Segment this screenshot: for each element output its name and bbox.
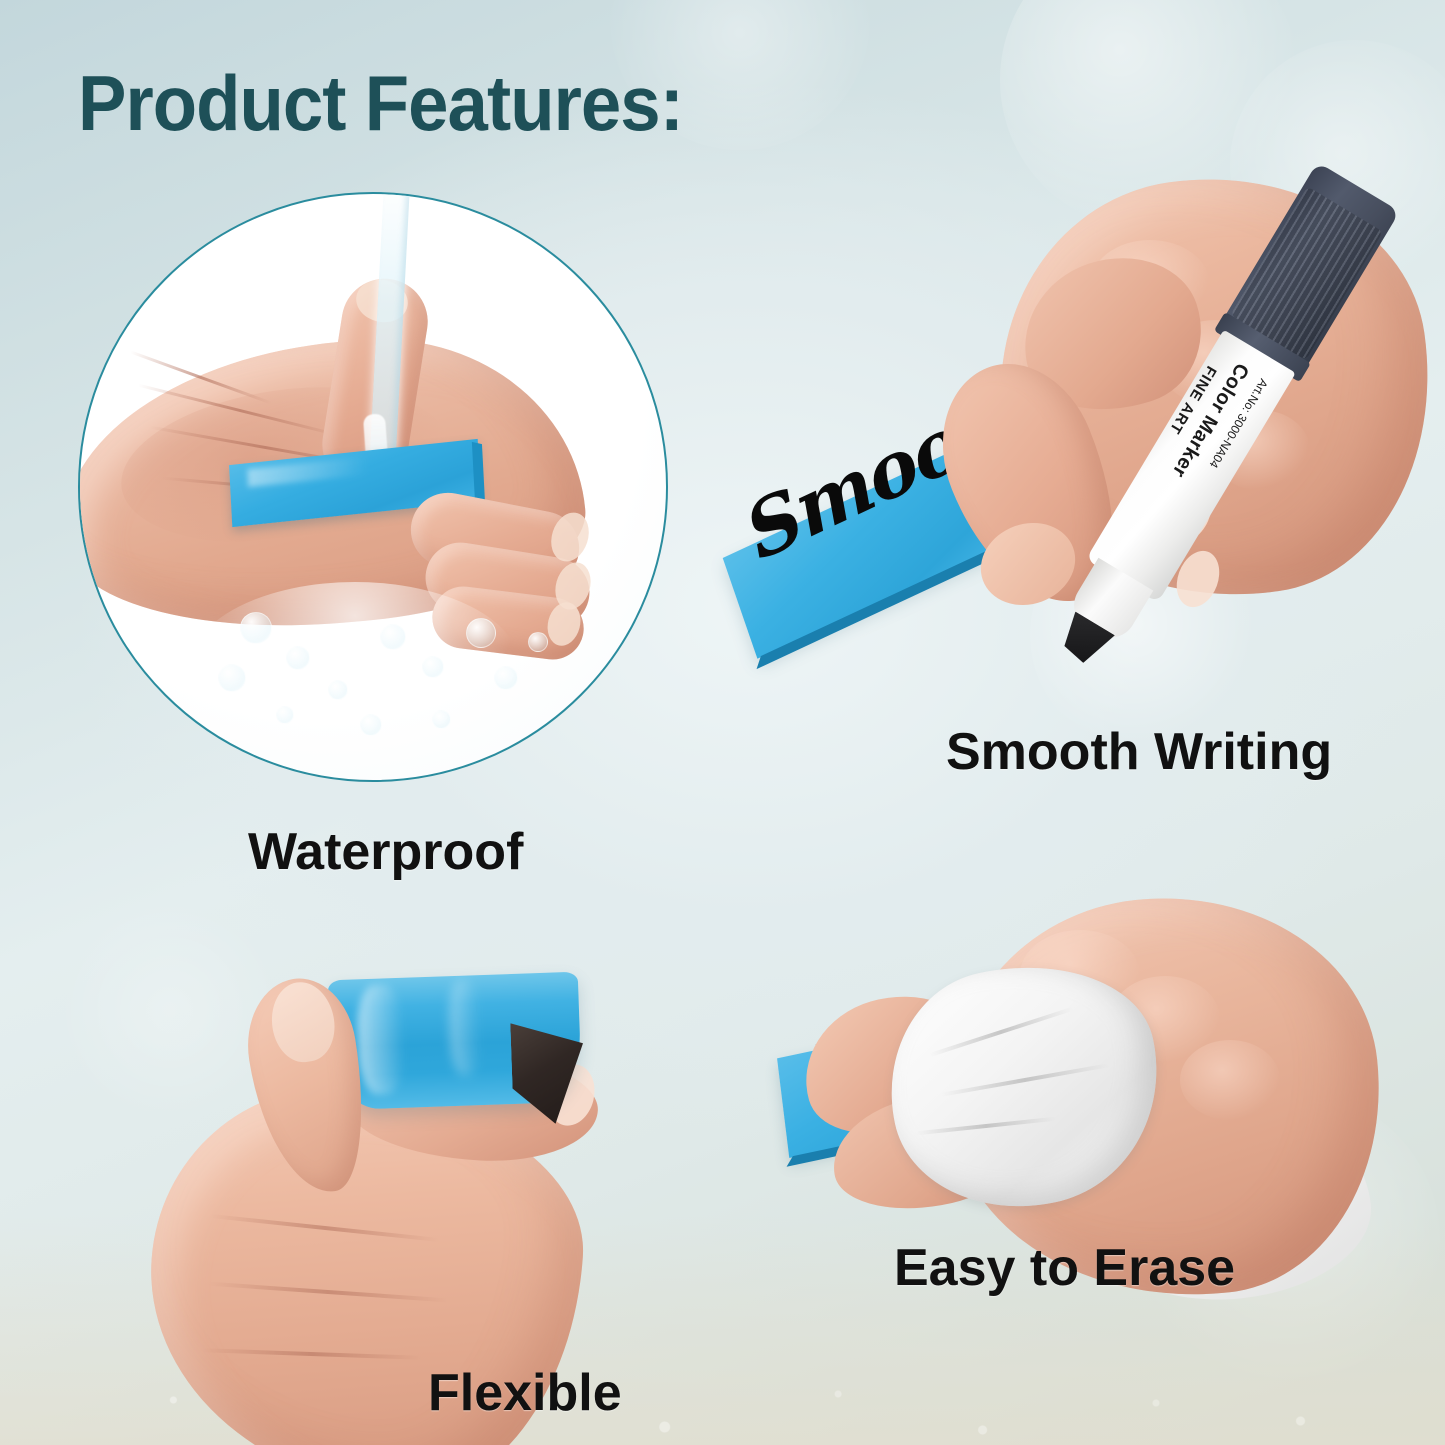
feature-caption-easy-to-erase: Easy to Erase [894,1238,1235,1298]
feature-caption-waterproof: Waterproof [248,822,523,882]
label-sheen [247,457,367,488]
water-droplet [380,624,406,650]
water-droplet [494,666,518,690]
water-droplet [360,714,382,736]
feature-panel-smooth-writing: Smoot FINE ART Color Marker Art.No: 3000… [690,120,1445,820]
label-sheen [448,979,481,1076]
water-droplet [328,680,348,700]
waterproof-circle-frame [78,192,668,782]
water-droplet [276,706,294,724]
knuckle-highlight [1180,1040,1280,1120]
label-sheen [356,984,406,1096]
water-droplet [528,632,548,652]
water-droplet [432,710,451,729]
infographic-canvas: Product Features: [0,0,1445,1445]
water-droplet [218,664,246,692]
page-title: Product Features: [78,64,683,142]
water-droplet [240,612,272,644]
feature-caption-flexible: Flexible [428,1363,622,1423]
water-droplet [286,646,310,670]
water-droplet [466,618,496,648]
feature-caption-smooth-writing: Smooth Writing [946,722,1332,782]
water-droplet [422,656,444,678]
feature-panel-waterproof [78,192,668,782]
